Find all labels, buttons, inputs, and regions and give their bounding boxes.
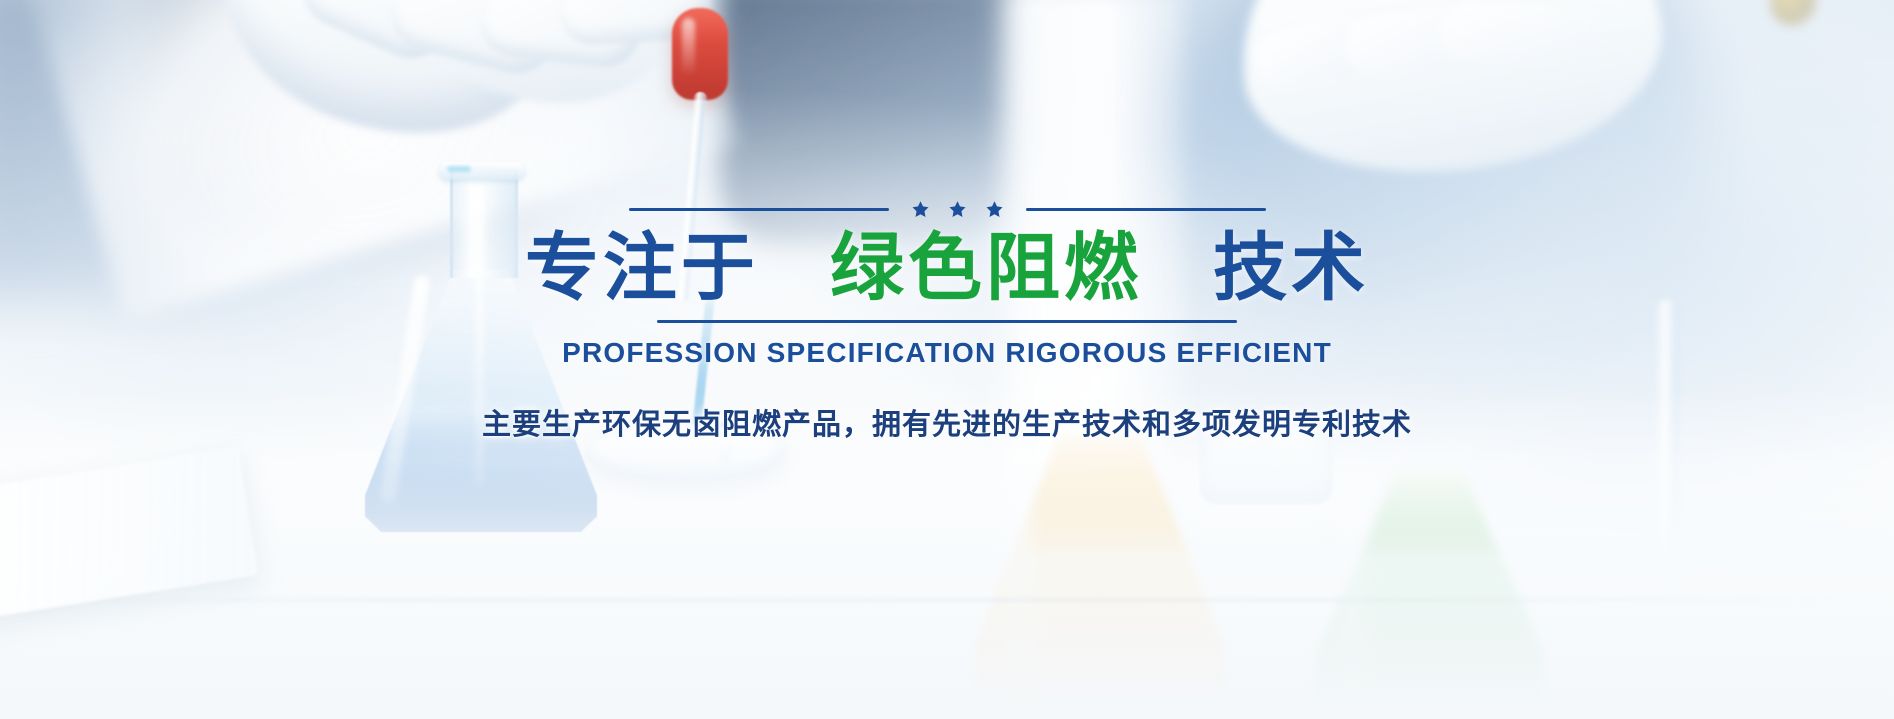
headline-bottom-divider (657, 320, 1237, 323)
divider-line-left (629, 208, 889, 211)
hero-banner: 专注于 绿色阻燃 技术 PROFESSION SPECIFICATION RIG… (0, 0, 1894, 719)
headline-top-divider (617, 196, 1277, 222)
english-tagline: PROFESSION SPECIFICATION RIGOROUS EFFICI… (562, 337, 1332, 369)
banner-subtitle: 主要生产环保无卤阻燃产品，拥有先进的生产技术和多项发明专利技术 (482, 401, 1412, 443)
star-group (911, 200, 1004, 219)
divider-line-right (1026, 208, 1266, 211)
star-icon (985, 200, 1004, 219)
star-icon (911, 200, 930, 219)
star-icon (948, 200, 967, 219)
headline-part-2: 绿色阻燃 (830, 226, 1142, 309)
banner-content: 专注于 绿色阻燃 技术 PROFESSION SPECIFICATION RIG… (0, 0, 1894, 719)
headline: 专注于 绿色阻燃 技术 (525, 228, 1369, 308)
headline-part-3: 技术 (1213, 226, 1369, 309)
headline-part-1: 专注于 (525, 226, 759, 309)
